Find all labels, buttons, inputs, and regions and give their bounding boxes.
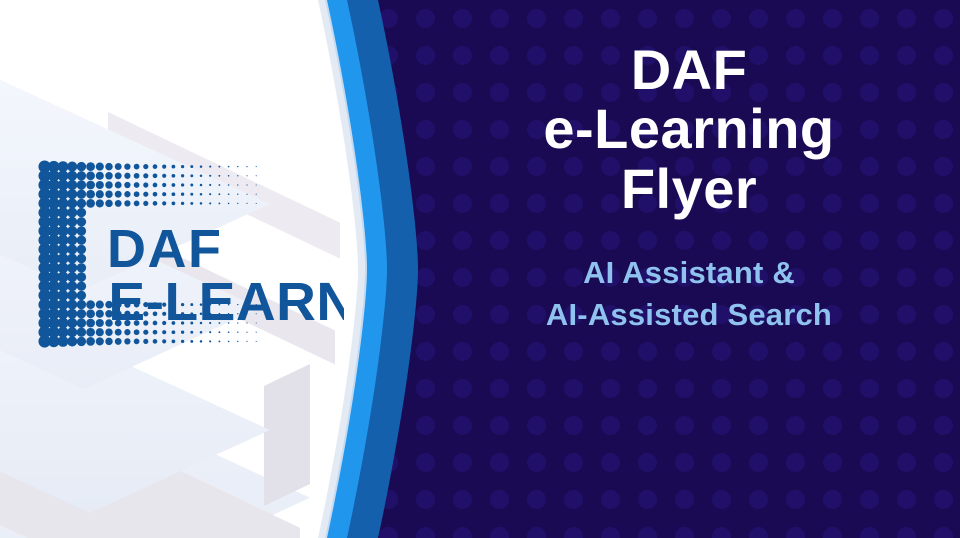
- subtitle-line-2: AI-Assisted Search: [418, 294, 960, 336]
- iso-base-box-right: [264, 364, 310, 506]
- daf-e-learning-logo: DAF E-LEARNING: [38, 160, 344, 378]
- flyer-canvas: DAF E-LEARNING: [0, 0, 960, 538]
- flyer-title: DAF e-Learning Flyer: [418, 40, 960, 218]
- left-white-panel: DAF E-LEARNING: [0, 0, 420, 538]
- svg-text:E-LEARNING: E-LEARNING: [108, 271, 344, 331]
- title-line-1: DAF: [418, 40, 960, 99]
- title-line-2: e-Learning: [418, 99, 960, 158]
- svg-text:DAF: DAF: [107, 219, 222, 279]
- right-navy-content: DAF e-Learning Flyer AI Assistant & AI-A…: [418, 0, 960, 538]
- flyer-subtitle: AI Assistant & AI-Assisted Search: [418, 252, 960, 336]
- title-line-3: Flyer: [418, 159, 960, 218]
- subtitle-line-1: AI Assistant &: [418, 252, 960, 294]
